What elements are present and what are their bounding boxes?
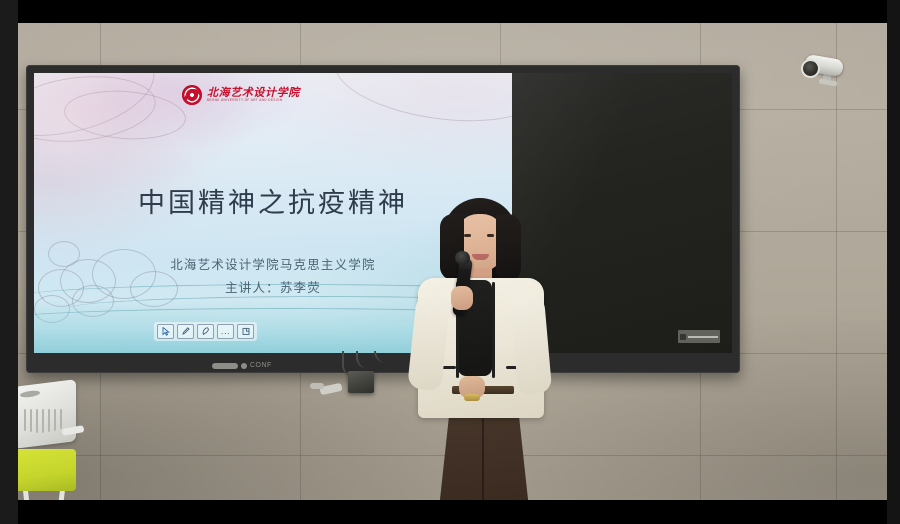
display-brand-label: CONF [212,362,272,369]
chair-slot [48,409,50,432]
presenter-watch [464,394,480,401]
university-logo: 北海艺术设计学院 BEIHAI UNIVERSITY OF ART AND DE… [182,85,300,105]
more-options-icon[interactable]: ... [217,324,234,339]
chair-slot [54,409,56,431]
sticker-line [688,336,718,338]
interactive-display[interactable]: 北海艺术设计学院 BEIHAI UNIVERSITY OF ART AND DE… [26,65,740,373]
photo-stage: 北海艺术设计学院 BEIHAI UNIVERSITY OF ART AND DE… [0,23,900,500]
highlighter-icon[interactable] [197,324,214,339]
presenter-arm-right [510,293,553,396]
chair-slot [24,409,26,431]
panel-sticker [678,330,720,343]
brand-mark [212,363,238,369]
brand-text: CONF [250,362,272,369]
chair-slot [60,409,62,429]
classroom-chair [6,383,96,500]
presenter [396,198,586,500]
letterbox-left [0,0,18,524]
presenter-eye [487,234,494,237]
screenshot-frame: 北海艺术设计学院 BEIHAI UNIVERSITY OF ART AND DE… [0,0,900,524]
chair-slot [36,409,38,433]
cardigan-lapel-right [492,282,495,378]
letterbox-bottom [0,500,900,524]
logo-name-cn: 北海艺术设计学院 [207,87,300,98]
brand-dot [241,363,247,369]
presenter-eye [464,234,471,237]
chair-seat [10,449,76,491]
sticker-square [680,334,686,340]
presenter-hair-right [496,214,521,282]
presentation-toolbar[interactable]: ... [154,322,257,341]
display-screen-area: 北海艺术设计学院 BEIHAI UNIVERSITY OF ART AND DE… [34,73,732,353]
logo-text-block: 北海艺术设计学院 BEIHAI UNIVERSITY OF ART AND DE… [207,87,300,103]
cable-tail [310,383,324,389]
ellipsis-glyph: ... [221,328,230,336]
display-settings-icon[interactable] [237,324,254,339]
chair-slot [30,409,32,432]
pointer-icon[interactable] [157,324,174,339]
chair-slot [42,409,44,433]
letterbox-right [887,0,900,524]
camera-base [819,78,838,86]
security-camera-icon [799,49,849,87]
logo-swirl-icon [182,85,202,105]
presenter-hand-holding-mic [451,286,473,310]
power-module [348,371,374,393]
letterbox-top [0,0,900,23]
pen-icon[interactable] [177,324,194,339]
